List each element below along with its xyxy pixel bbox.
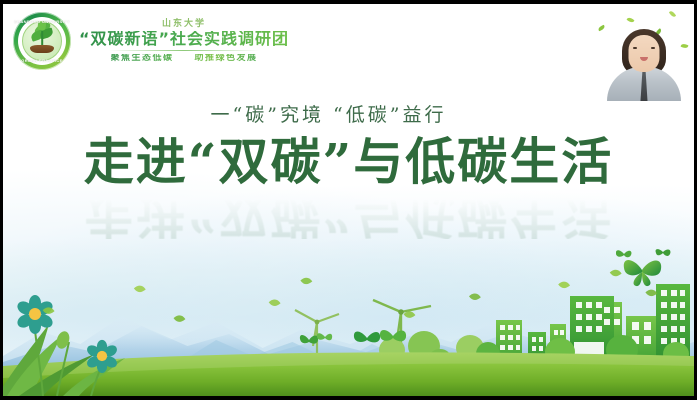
header-divider	[109, 50, 259, 51]
header-slogan: 聚焦生态低碳 助推绿色发展	[111, 54, 258, 63]
logo-arc-bottom-text: GREEN PRACTICE	[13, 58, 71, 63]
presenter-figure	[607, 29, 681, 101]
eco-landscape-illustration	[3, 266, 694, 396]
leaf-particle-icon	[597, 25, 605, 32]
presenter-eye-left	[633, 47, 637, 49]
slide-title: 走进“双碳”与低碳生活	[3, 137, 694, 187]
leaf-particle-icon	[626, 16, 634, 23]
butterfly-group-left	[299, 330, 333, 352]
leaf-particle-icon	[669, 10, 676, 18]
slide-title-block: 走进“双碳”与低碳生活 走进“双碳”与低碳生活	[3, 137, 694, 239]
presenter-video-overlay[interactable]	[594, 4, 694, 101]
slide-header: SHANDONG UNIVERSITY GREEN PRACTICE 山东大学 …	[13, 12, 289, 70]
butterfly-group-middle	[351, 324, 409, 354]
team-name: “双碳新语”社会实践调研团	[79, 31, 289, 47]
screenshot-canvas: SHANDONG UNIVERSITY GREEN PRACTICE 山东大学 …	[0, 0, 697, 400]
slide-title-reflection: 走进“双碳”与低碳生活	[3, 189, 694, 239]
presenter-face	[629, 35, 660, 72]
presentation-slide: SHANDONG UNIVERSITY GREEN PRACTICE 山东大学 …	[3, 4, 694, 396]
logo-arc-top-text: SHANDONG UNIVERSITY	[13, 19, 71, 24]
presenter-eye-right	[651, 47, 655, 49]
leaf-particle-icon	[681, 43, 689, 49]
university-name: 山东大学	[162, 20, 206, 29]
logo-soil-mound	[30, 45, 54, 53]
teal-daisy-flowers-group	[3, 284, 153, 396]
slide-subtitle: 一“碳”究境 “低碳”益行	[3, 100, 694, 127]
butterfly-group-right	[616, 248, 676, 290]
organization-block: 山东大学 “双碳新语”社会实践调研团 聚焦生态低碳 助推绿色发展	[79, 20, 289, 63]
logo-inner-disc	[22, 21, 62, 61]
sprout-emblem-logo: SHANDONG UNIVERSITY GREEN PRACTICE	[13, 12, 71, 70]
